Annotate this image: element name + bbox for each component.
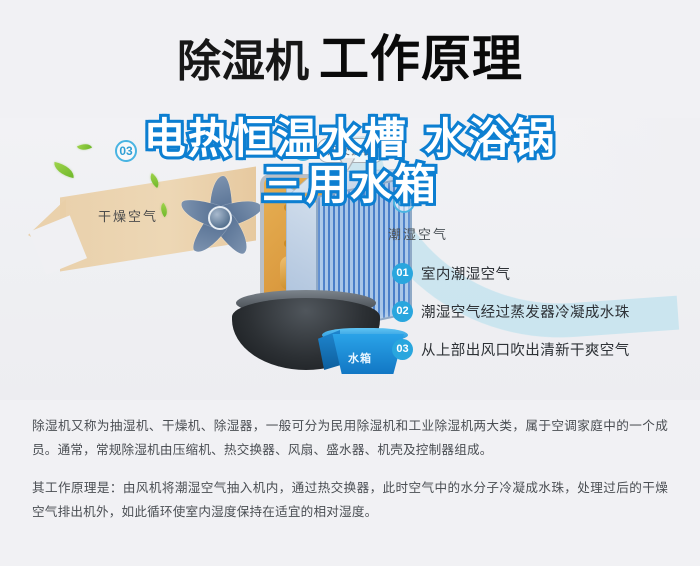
dehumidifier-diagram: 水箱 03 干燥空气 02 热交换器 01 潮湿空气 01 室内潮湿空气 02 …	[0, 118, 700, 400]
legend-badge: 02	[392, 301, 413, 322]
description-section: 除湿机又称为抽湿机、干燥机、除湿器，一般可分为民用除湿机和工业除湿机两大类，属于…	[0, 400, 700, 524]
diagram-badge-01: 01	[393, 191, 415, 213]
description-paragraph-2: 其工作原理是：由风机将潮湿空气抽入机内，通过热交换器，此时空气中的水分子冷凝成水…	[32, 476, 668, 524]
legend-item: 03 从上部出风口吹出清新干爽空气	[392, 330, 692, 368]
page-title: 除湿机 工作原理	[177, 34, 523, 84]
humid-air-label: 潮湿空气	[388, 224, 448, 243]
description-paragraph-1: 除湿机又称为抽湿机、干燥机、除湿器，一般可分为民用除湿机和工业除湿机两大类，属于…	[32, 414, 668, 462]
dry-air-label: 干燥空气	[98, 206, 158, 225]
legend-item: 01 室内潮湿空气	[392, 254, 692, 292]
process-legend-list: 01 室内潮湿空气 02 潮湿空气经过蒸发器冷凝成水珠 03 从上部出风口吹出清…	[392, 254, 692, 368]
legend-badge: 01	[392, 263, 413, 284]
legend-label: 从上部出风口吹出清新干爽空气	[421, 339, 630, 360]
water-tank-label: 水箱	[348, 350, 372, 366]
fan-hub	[208, 206, 232, 230]
page-title-part-2: 工作原理	[319, 34, 523, 84]
page-title-part-1: 除湿机	[177, 40, 309, 84]
legend-label: 室内潮湿空气	[421, 263, 510, 284]
page-header: 除湿机 工作原理	[0, 0, 700, 118]
leaf-icon	[77, 140, 92, 153]
legend-label: 潮湿空气经过蒸发器冷凝成水珠	[421, 301, 630, 322]
humid-air-flow-fade	[560, 118, 700, 238]
legend-badge: 03	[392, 339, 413, 360]
legend-item: 02 潮湿空气经过蒸发器冷凝成水珠	[392, 292, 692, 330]
callout-pointer-icon	[340, 158, 354, 170]
diagram-badge-02: 02	[292, 139, 314, 161]
diagram-badge-03: 03	[115, 140, 137, 162]
